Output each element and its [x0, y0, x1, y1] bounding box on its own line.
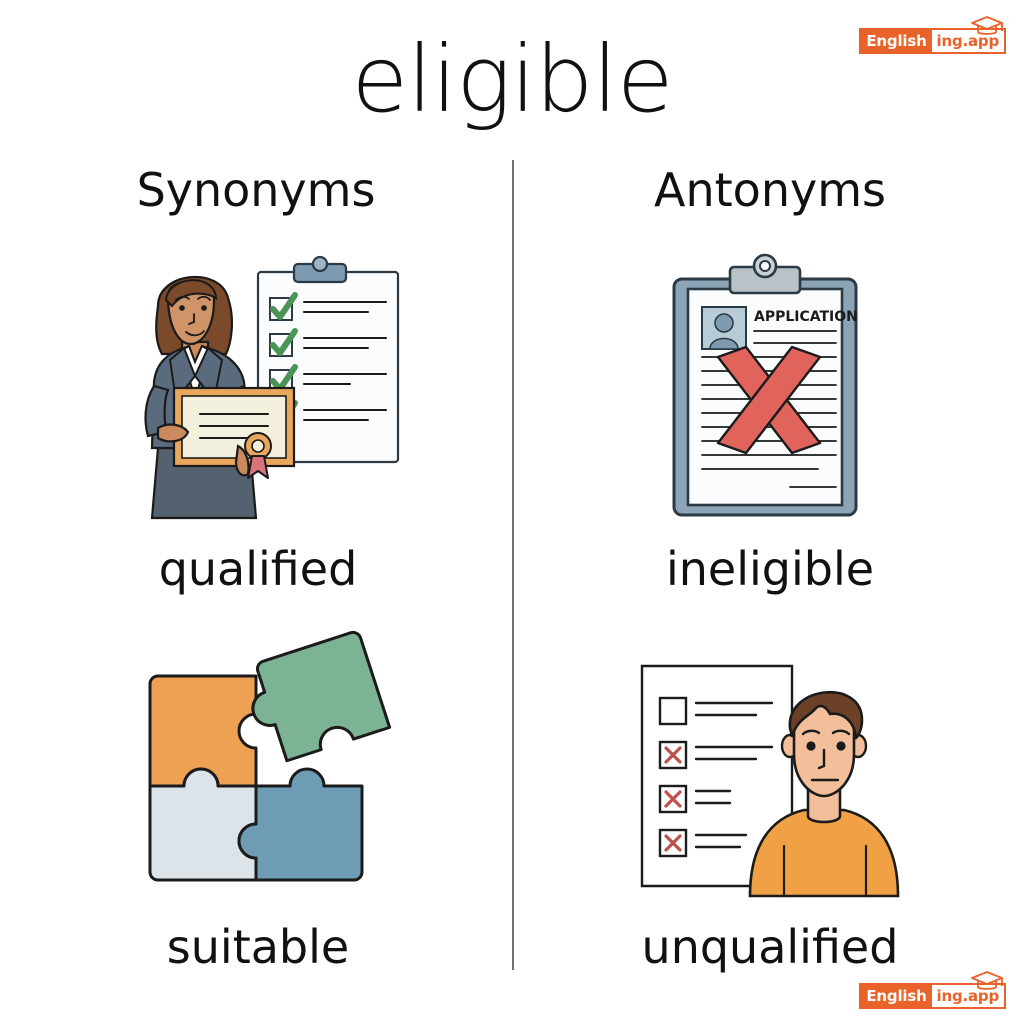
empty-checkbox-icon	[660, 698, 686, 724]
puzzle-piece-blue	[239, 769, 362, 880]
word-label-unqualified: unqualified	[540, 924, 1000, 970]
puzzle-piece-green	[239, 630, 389, 766]
word-label-qualified: qualified	[28, 546, 488, 592]
word-label-ineligible: ineligible	[540, 546, 1000, 592]
red-x-checkbox-icon	[660, 742, 686, 856]
illustration-qualified	[110, 250, 410, 535]
application-heading: APPLICATION	[754, 309, 858, 325]
synonyms-heading: Synonyms	[46, 167, 466, 213]
brand-logo-bottom[interactable]: English ing.app	[859, 983, 1006, 1009]
illustration-suitable	[130, 630, 400, 910]
graduation-cap-icon	[970, 970, 1004, 992]
illustration-ineligible: APPLICATION	[640, 250, 890, 535]
page-title: eligible	[0, 34, 1024, 126]
puzzle-piece-gray	[150, 769, 256, 880]
column-divider	[512, 160, 514, 970]
certificate-icon	[174, 388, 294, 478]
logo-text-english: English	[861, 985, 931, 1007]
antonyms-heading: Antonyms	[560, 167, 980, 213]
infographic-page: English ing.app English ing.app eligible…	[0, 0, 1024, 1024]
word-label-suitable: suitable	[28, 924, 488, 970]
illustration-unqualified	[620, 650, 910, 912]
